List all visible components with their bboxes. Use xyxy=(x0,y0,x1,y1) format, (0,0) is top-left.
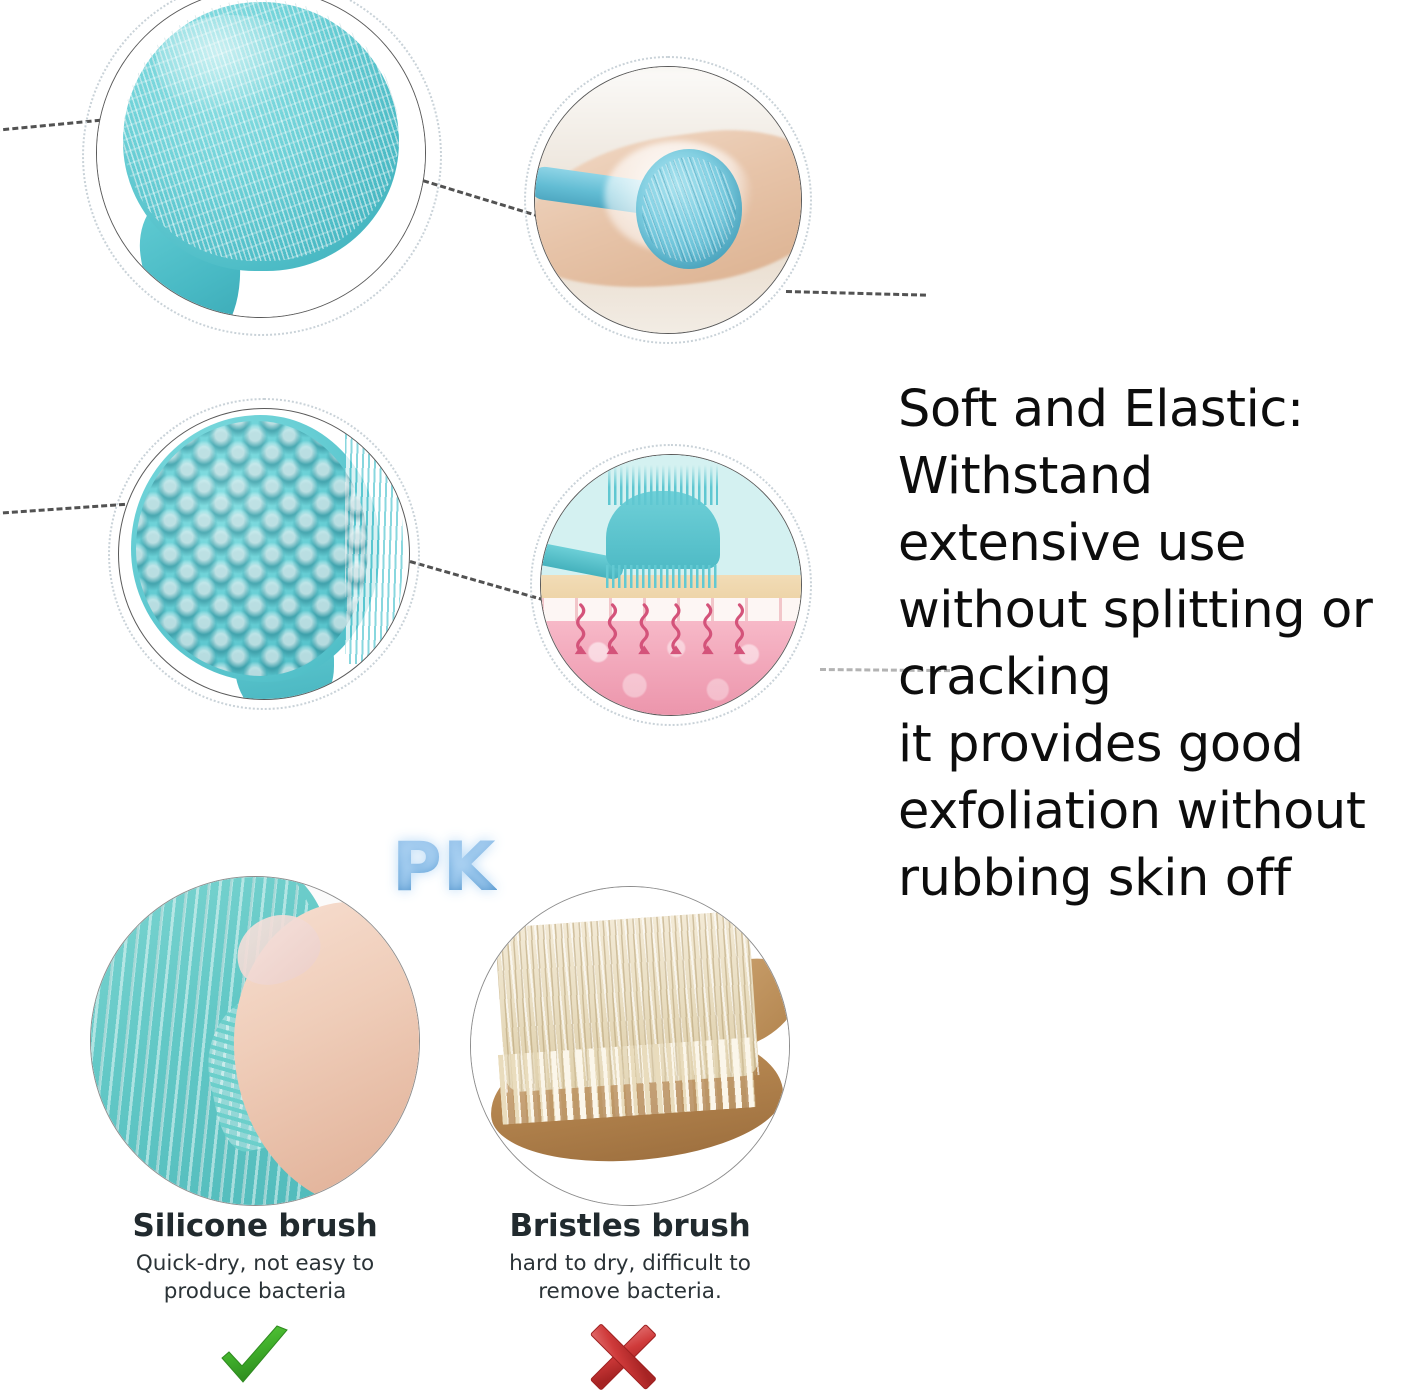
connector-circle2-to-right xyxy=(786,290,926,297)
photo-silicone-brush-nubs xyxy=(118,408,410,700)
photo-silicone-macro-thumb xyxy=(90,876,420,1206)
comparison-description-silicone: Quick-dry, not easy to produce bacteria xyxy=(85,1250,425,1307)
feature-description-text: Soft and Elastic: Withstand extensive us… xyxy=(898,376,1427,912)
verdict-bristles xyxy=(588,1322,658,1392)
photo-silicone-brush-fine-bristles xyxy=(96,0,426,318)
verdict-silicone xyxy=(216,1325,294,1391)
comparison-title-bristles: Bristles brush xyxy=(480,1208,780,1244)
photo-skin-cross-section xyxy=(540,454,802,716)
connector-circle3-to-circle4 xyxy=(410,560,545,601)
comparison-title-silicone: Silicone brush xyxy=(105,1208,405,1244)
photo-natural-bristle-brush xyxy=(470,886,790,1206)
comparison-description-bristles: hard to dry, difficult to remove bacteri… xyxy=(460,1250,800,1307)
infographic-canvas: Soft and Elastic: Withstand extensive us… xyxy=(0,0,1427,1400)
check-icon xyxy=(216,1325,294,1391)
cross-icon xyxy=(588,1322,658,1392)
photo-brush-washing-arm xyxy=(534,66,802,334)
connector-circle1-to-circle2 xyxy=(406,174,541,218)
penetration-arrows-icon xyxy=(541,601,801,669)
